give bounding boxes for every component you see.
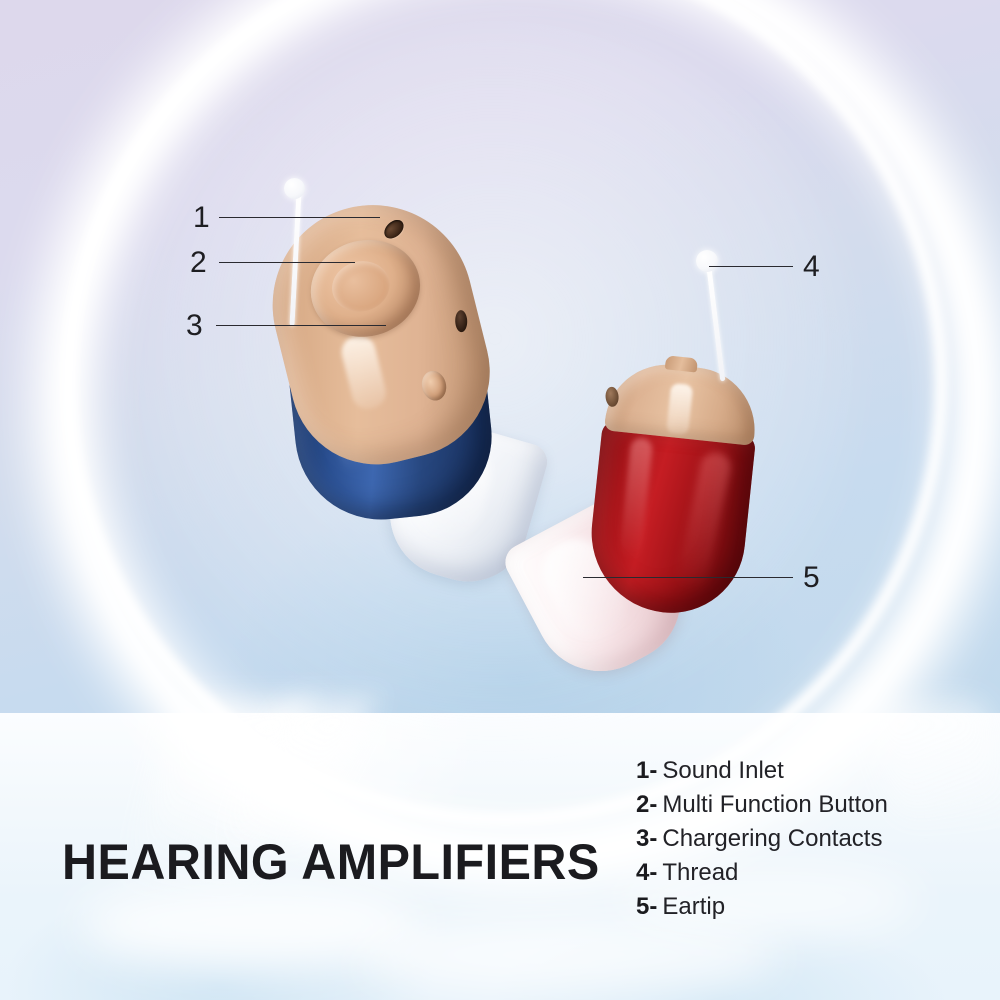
infographic-canvas: 1 2 3 4 5 HEARING AMPLIFIERS 1- Sound In… — [0, 0, 1000, 1000]
callout-leader-3 — [216, 325, 386, 326]
callout-number-3: 3 — [186, 311, 203, 341]
legend-item: 5- Eartip — [636, 893, 976, 921]
callout-leader-5 — [583, 577, 793, 578]
legend-number: 1- — [636, 757, 657, 785]
callout-number-5: 5 — [803, 563, 820, 593]
callout-leader-2 — [219, 262, 355, 263]
red-hearing-amplifier — [569, 348, 901, 698]
legend-label: Chargering Contacts — [662, 825, 882, 853]
legend-number: 2- — [636, 791, 657, 819]
legend-label: Eartip — [662, 893, 725, 921]
callout-number-1: 1 — [193, 203, 210, 233]
shell-highlight — [338, 332, 389, 412]
legend-item: 3- Chargering Contacts — [636, 825, 976, 853]
legend-item: 1- Sound Inlet — [636, 757, 976, 785]
callout-number-4: 4 — [803, 252, 820, 282]
callout-leader-1 — [219, 217, 380, 218]
legend-item: 4- Thread — [636, 859, 976, 887]
legend-number: 3- — [636, 825, 657, 853]
legend-label: Multi Function Button — [662, 791, 887, 819]
legend-number: 5- — [636, 893, 657, 921]
legend-item: 2- Multi Function Button — [636, 791, 976, 819]
legend-number: 4- — [636, 859, 657, 887]
legend-label: Sound Inlet — [662, 757, 783, 785]
legend-list: 1- Sound Inlet 2- Multi Function Button … — [636, 757, 976, 927]
page-title: HEARING AMPLIFIERS — [62, 833, 600, 891]
legend-label: Thread — [662, 859, 738, 887]
callout-leader-4 — [709, 266, 793, 267]
callout-number-2: 2 — [190, 248, 207, 278]
